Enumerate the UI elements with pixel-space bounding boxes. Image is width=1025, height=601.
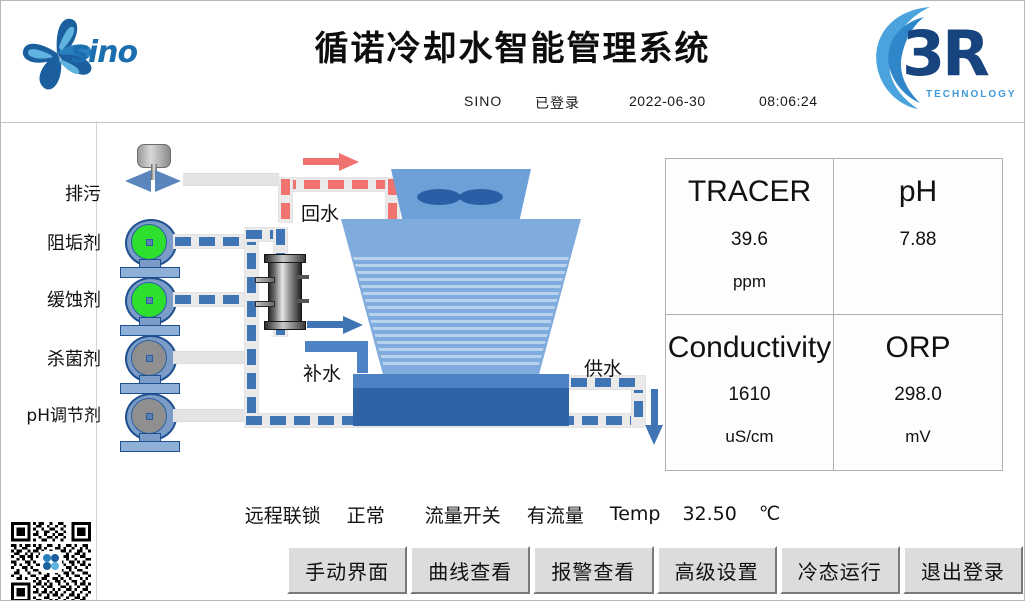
label-biocide: 杀菌剂 <box>0 345 101 371</box>
status-temp-label: Temp <box>610 503 661 525</box>
cooling-tower <box>341 169 581 429</box>
readout-unit: uS/cm <box>725 427 773 447</box>
pipe-blowdown <box>183 173 279 186</box>
pump-center-dot <box>146 413 153 420</box>
3r-technology-logo: 3R TECHNOLOGY <box>866 3 1018 115</box>
readout-name: TRACER <box>688 175 811 210</box>
vessel-nozzle-lower <box>297 299 309 303</box>
header-bar: sino 循诺冷却水智能管理系统 SINO 已登录 2022-06-30 08:… <box>1 1 1024 123</box>
pump-center-dot <box>146 355 153 362</box>
status-remote-interlock-label: 远程联锁 <box>245 501 321 528</box>
header-username: SINO <box>464 93 502 109</box>
vessel-cap-top <box>264 254 306 263</box>
blowdown-valve-icon[interactable] <box>121 144 187 192</box>
vessel-probe-upper <box>255 277 275 283</box>
button-trend-view[interactable]: 曲线查看 <box>410 546 530 594</box>
3r-tagline: TECHNOLOGY <box>926 89 1017 100</box>
readout-value: 7.88 <box>900 229 937 251</box>
readout-value: 39.6 <box>731 229 768 251</box>
pipe-return-left <box>278 177 293 223</box>
tower-basin-waterline <box>353 374 569 388</box>
vessel-nozzle-upper <box>297 275 309 279</box>
header-login-status: 已登录 <box>535 93 580 113</box>
header-time: 08:06:24 <box>759 93 818 109</box>
label-corrosion-inhibitor: 缓蚀剂 <box>0 286 101 312</box>
pipe-corrosion-feed <box>173 292 245 307</box>
readout-name: pH <box>899 175 937 210</box>
valve-body-right <box>155 170 181 192</box>
label-return-water: 回水 <box>301 199 339 226</box>
qr-sino-flower-icon <box>40 551 62 573</box>
tower-fan-blade <box>459 189 503 205</box>
readout-value: 1610 <box>728 384 770 406</box>
status-temp-unit: ℃ <box>759 503 780 526</box>
readout-orp: ORP 298.0 mV <box>834 315 1002 471</box>
pipe-biocide-feed <box>173 351 245 364</box>
label-blowdown: 排污 <box>0 180 101 206</box>
vessel-drum <box>268 259 302 325</box>
pump-corrosion-inhibitor[interactable] <box>119 277 179 333</box>
readout-unit: ppm <box>733 272 766 292</box>
pump-center-dot <box>146 297 153 304</box>
readout-tracer: TRACER 39.6 ppm <box>666 159 834 315</box>
label-supply-water: 供水 <box>584 354 622 381</box>
pump-ph-adjuster[interactable] <box>119 393 179 449</box>
readout-value: 298.0 <box>894 384 942 406</box>
status-temp-value: 32.50 <box>682 503 736 525</box>
3r-wordmark: 3R <box>902 17 987 90</box>
button-advanced-settings[interactable]: 高级设置 <box>657 546 777 594</box>
pump-scale-inhibitor[interactable] <box>119 219 179 275</box>
application-window: sino 循诺冷却水智能管理系统 SINO 已登录 2022-06-30 08:… <box>0 0 1025 601</box>
qr-code[interactable] <box>7 522 95 601</box>
arrow-supply-flow <box>649 389 659 445</box>
button-logout[interactable]: 退出登录 <box>903 546 1023 594</box>
label-scale-inhibitor: 阻垢剂 <box>0 229 101 255</box>
pump-base <box>120 441 180 452</box>
status-remote-interlock-value: 正常 <box>347 501 385 528</box>
button-alarm-view[interactable]: 报警查看 <box>533 546 653 594</box>
pipe-supply-left-vertical <box>244 227 259 425</box>
label-makeup-water: 补水 <box>303 359 341 386</box>
label-ph-adjuster: pH调节剂 <box>0 401 101 426</box>
bottom-button-bar: 手动界面 曲线查看 报警查看 高级设置 冷态运行 退出登录 <box>287 546 1023 594</box>
status-flow-switch-value: 有流量 <box>527 501 584 528</box>
pipe-scale-feed <box>173 234 245 249</box>
vessel-cap-bottom <box>264 321 306 330</box>
readout-name: ORP <box>885 331 950 366</box>
pump-center-dot <box>146 239 153 246</box>
valve-body-left <box>125 170 151 192</box>
header-date: 2022-06-30 <box>629 93 706 109</box>
readout-unit: mV <box>905 427 931 447</box>
button-cold-standby-run[interactable]: 冷态运行 <box>780 546 900 594</box>
readout-conductivity: Conductivity 1610 uS/cm <box>666 315 834 471</box>
pump-biocide[interactable] <box>119 335 179 391</box>
vessel-probe-lower <box>255 301 275 307</box>
status-bar: 远程联锁 正常 流量开关 有流量 Temp 32.50 ℃ <box>1 495 1024 533</box>
tower-fan-blade <box>417 189 461 205</box>
arrow-return-flow <box>303 156 359 166</box>
button-manual-interface[interactable]: 手动界面 <box>287 546 407 594</box>
readout-ph: pH 7.88 <box>834 159 1002 315</box>
pipe-ph-feed <box>173 409 245 422</box>
sensor-vessel-icon[interactable] <box>263 251 305 333</box>
measurement-panel: TRACER 39.6 ppm pH 7.88 Conductivity 161… <box>665 158 1003 471</box>
qr-center-logo <box>40 551 62 573</box>
readout-name: Conductivity <box>668 331 831 366</box>
status-flow-switch-label: 流量开关 <box>425 501 501 528</box>
